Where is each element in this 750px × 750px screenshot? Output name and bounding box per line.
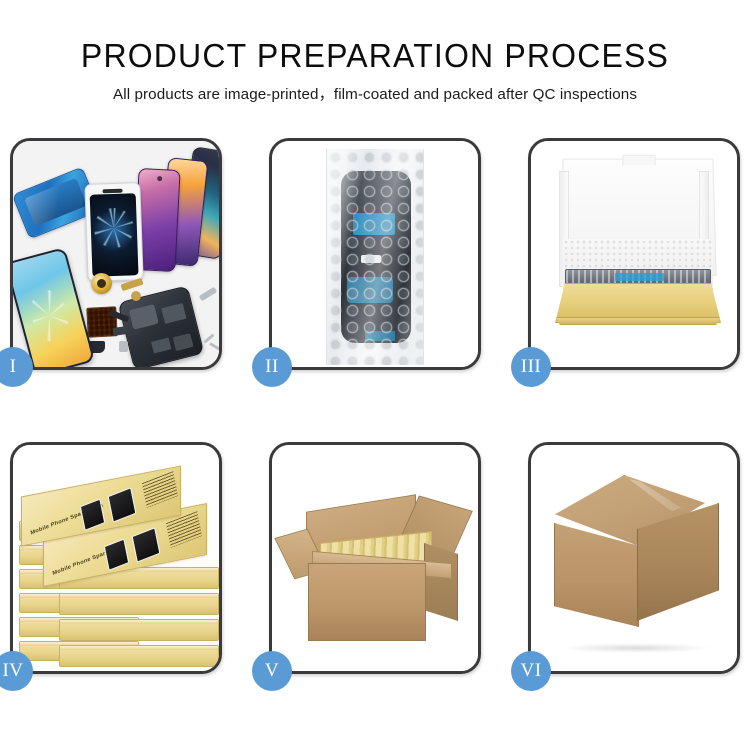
open-mailer-box-scene (531, 141, 737, 367)
open-carton-scene (272, 445, 478, 671)
step-3-image (531, 141, 737, 367)
tweezers-icon (199, 287, 217, 302)
carton-seam-icon (601, 620, 617, 638)
carton-side-panel-icon (424, 543, 458, 621)
box-text-lines (142, 471, 178, 508)
product-preparation-infographic: PRODUCT PREPARATION PROCESS All products… (0, 0, 750, 750)
flex-cable-connector-icon (131, 291, 141, 301)
phone-parts-scene (13, 141, 219, 367)
carton-shadow (561, 643, 711, 653)
page-subtitle: All products are image-printed，film-coat… (0, 84, 750, 106)
step-6-image (531, 445, 737, 671)
step-panel-5[interactable]: V (269, 442, 481, 674)
step-4-image: Mobile Phone Spare Parts Mobile Phone Sp… (13, 445, 219, 671)
box-screen-image (80, 498, 106, 531)
bubble-wrap-scene (272, 141, 478, 367)
step-badge-4: IV (0, 651, 33, 691)
retail-box-edge (59, 593, 219, 615)
step-2-image (272, 141, 478, 367)
front-phone-icon (13, 247, 95, 367)
screw-icon (209, 342, 219, 351)
sealed-carton-scene (531, 445, 737, 671)
plastic-sheen-icon (327, 149, 423, 365)
screw-icon (203, 333, 214, 343)
step-badge-6: VI (511, 651, 551, 691)
retail-box-edge (59, 645, 219, 667)
cracked-screen-icon (84, 182, 143, 282)
process-steps-grid: I II (10, 138, 740, 678)
box-screen-image (132, 527, 161, 563)
box-front-wall-icon (553, 317, 723, 325)
step-5-image (272, 445, 478, 671)
retail-box-stack-scene: Mobile Phone Spare Parts Mobile Phone Sp… (13, 445, 219, 671)
step-panel-2[interactable]: II (269, 138, 481, 370)
retail-box-edge (59, 619, 219, 641)
step-panel-1[interactable]: I (10, 138, 222, 370)
carton-body-icon (308, 563, 426, 641)
bubble-wrap-bag-icon (326, 149, 424, 365)
speaker-module-icon (91, 273, 112, 294)
page-title: PRODUCT PREPARATION PROCESS (11, 36, 739, 76)
box-screen-image (104, 538, 130, 571)
notch-icon (103, 189, 123, 194)
step-panel-3[interactable]: III (528, 138, 740, 370)
header: PRODUCT PREPARATION PROCESS All products… (0, 0, 750, 106)
step-badge-2: II (252, 347, 292, 387)
step-1-image (13, 141, 219, 367)
step-badge-3: III (511, 347, 551, 387)
step-badge-1: I (0, 347, 33, 387)
box-screen-image (108, 487, 137, 523)
step-panel-4[interactable]: Mobile Phone Spare Parts Mobile Phone Sp… (10, 442, 222, 674)
step-badge-5: V (252, 651, 292, 691)
small-part-icon (119, 341, 128, 352)
step-panel-6[interactable]: VI (528, 442, 740, 674)
